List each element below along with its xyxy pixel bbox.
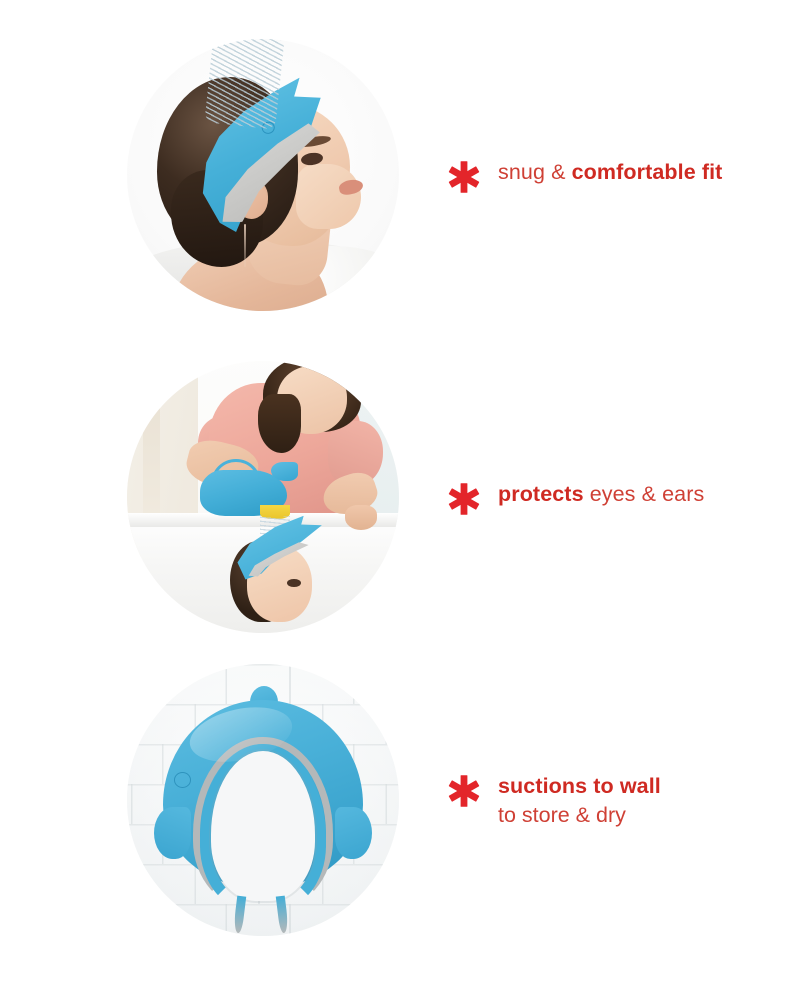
visor-blue-shell [232, 513, 332, 585]
asterisk-icon [447, 774, 481, 808]
feature-caption: protects eyes & ears [447, 478, 704, 516]
feature-text: protects eyes & ears [498, 480, 704, 509]
rinser-tail-fin [271, 462, 298, 481]
feature-text-plain: snug & [498, 160, 572, 184]
feature-text-bold: suctions to wall [498, 774, 661, 798]
parent-hand-right [345, 505, 378, 529]
water-drip [244, 224, 246, 268]
feature-caption: snug & comfortable fit [447, 156, 722, 194]
feature-text-line2: to store & dry [498, 801, 661, 830]
feature-text: snug & comfortable fit [498, 158, 722, 187]
feature-caption: suctions to wall to store & dry [447, 770, 661, 830]
child-wearing-shampoo-visor-in-bath [127, 39, 399, 311]
shampoo-visor [154, 686, 372, 920]
parent-rinsing-child-hair [127, 361, 399, 633]
asterisk-icon [447, 160, 481, 194]
shampoo-visor [232, 513, 332, 585]
feature-row: suctions to wall to store & dry [0, 645, 800, 955]
asterisk-icon [447, 482, 481, 516]
feature-text-bold: comfortable fit [572, 160, 723, 184]
feature-list: snug & comfortable fit [0, 0, 800, 1000]
whale-side-fin-left [154, 807, 191, 858]
toddler-eye [287, 579, 301, 587]
water-stream [204, 39, 284, 129]
feature-row: protects eyes & ears [0, 342, 800, 652]
feature-row: snug & comfortable fit [0, 20, 800, 330]
feature-text-suffix: eyes & ears [584, 482, 705, 506]
feature-text: suctions to wall [498, 772, 661, 801]
feature-text-bold: protects [498, 482, 584, 506]
whale-side-fin-right [335, 807, 372, 858]
visor-suctioned-to-tile-wall [127, 664, 399, 936]
